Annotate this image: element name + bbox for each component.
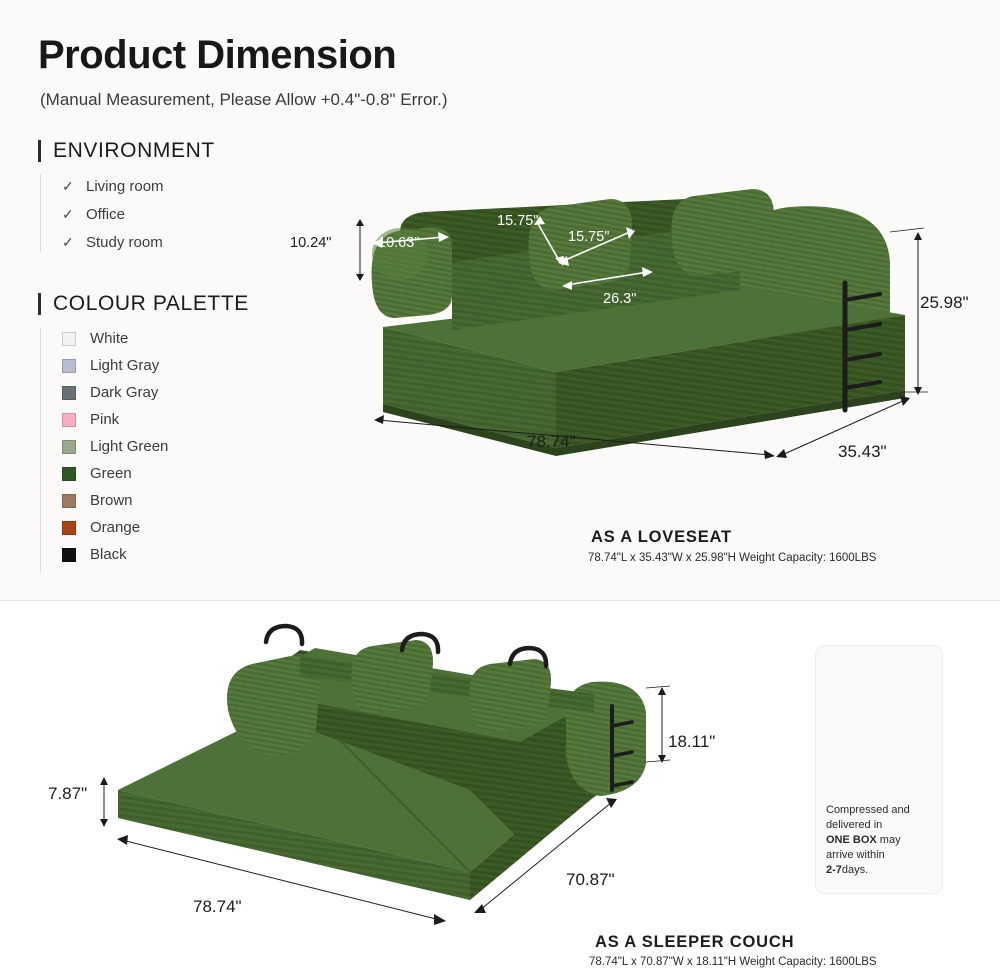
sleeper-caption-sub: 78.74"L x 70.87"W x 18.11"H Weight Capac… (589, 956, 877, 968)
color-swatch (62, 467, 76, 481)
list-item: ✓ Office (40, 200, 164, 228)
check-icon: ✓ (62, 178, 74, 195)
list-item: Black (40, 541, 168, 568)
sleeper-caption-title: AS A SLEEPER COUCH (595, 933, 794, 952)
dim-pillow-a: 15.75" (497, 213, 538, 229)
shipping-line-1: Compressed and (826, 804, 910, 816)
list-item-label: Brown (90, 492, 133, 509)
list-item: Brown (40, 487, 168, 514)
product-dimension-page: Product Dimension (Manual Measurement, P… (0, 0, 1000, 973)
palette-list: White Light Gray Dark Gray Pink Light Gr… (40, 325, 168, 568)
color-swatch (62, 494, 76, 508)
list-item-label: Pink (90, 411, 119, 428)
list-item-label: Black (90, 546, 127, 563)
list-item: Dark Gray (40, 379, 168, 406)
check-icon: ✓ (62, 206, 74, 223)
shipping-line-5-bold: 2-7 (826, 864, 842, 876)
list-item-label: Light Gray (90, 357, 159, 374)
palette-heading-bar (38, 293, 41, 315)
dim-arm-height: 10.24" (290, 235, 331, 251)
palette-heading: COLOUR PALETTE (38, 292, 249, 316)
page-title: Product Dimension (38, 33, 396, 78)
list-item: Light Gray (40, 352, 168, 379)
dim-seat-depth: 26.3" (603, 291, 636, 307)
list-item: ✓ Study room (40, 228, 164, 256)
color-swatch (62, 413, 76, 427)
page-subtitle: (Manual Measurement, Please Allow +0.4"-… (40, 90, 448, 110)
list-item-label: Light Green (90, 438, 168, 455)
loveseat-caption-title: AS A LOVESEAT (591, 528, 732, 547)
dim-mattress-height: 7.87" (48, 784, 87, 804)
color-swatch (62, 521, 76, 535)
shipping-line-3-bold: ONE BOX (826, 834, 877, 846)
color-swatch (62, 440, 76, 454)
list-item: Orange (40, 514, 168, 541)
list-item: Pink (40, 406, 168, 433)
dim-arm-width: 10.63" (378, 235, 419, 251)
list-item: White (40, 325, 168, 352)
check-icon: ✓ (62, 234, 74, 251)
color-swatch (62, 548, 76, 562)
environment-heading-label: ENVIRONMENT (53, 139, 215, 163)
shipping-line-2: delivered in (826, 819, 882, 831)
list-item-label: Orange (90, 519, 140, 536)
list-item: ✓ Living room (40, 172, 164, 200)
color-swatch (62, 332, 76, 346)
shipping-line-3-rest: may (877, 834, 901, 846)
list-item: Light Green (40, 433, 168, 460)
color-swatch (62, 359, 76, 373)
list-item: Green (40, 460, 168, 487)
shipping-card-text: Compressed and delivered in ONE BOX may … (826, 803, 934, 878)
list-item-label: Green (90, 465, 132, 482)
shipping-line-5-rest: days. (842, 864, 868, 876)
dim-total-height: 25.98" (920, 293, 969, 313)
environment-heading: ENVIRONMENT (38, 139, 215, 163)
dim-sleeper-depth: 70.87" (566, 870, 615, 890)
list-item-label: Study room (86, 234, 163, 251)
list-item-label: Dark Gray (90, 384, 158, 401)
color-swatch (62, 386, 76, 400)
list-item-label: White (90, 330, 128, 347)
loveseat-caption-sub: 78.74"L x 35.43"W x 25.98"H Weight Capac… (588, 552, 876, 564)
dim-back-height: 18.11" (668, 732, 715, 752)
environment-list: ✓ Living room ✓ Office ✓ Study room (40, 172, 164, 256)
dim-pillow-b: 15.75" (568, 229, 609, 245)
shipping-line-4: arrive within (826, 849, 885, 861)
palette-heading-label: COLOUR PALETTE (53, 292, 249, 316)
list-item-label: Office (86, 206, 125, 223)
dim-sleeper-length: 78.74" (193, 897, 242, 917)
dim-width: 35.43" (838, 442, 887, 462)
list-item-label: Living room (86, 178, 164, 195)
environment-heading-bar (38, 140, 41, 162)
dim-length: 78.74" (527, 432, 576, 452)
